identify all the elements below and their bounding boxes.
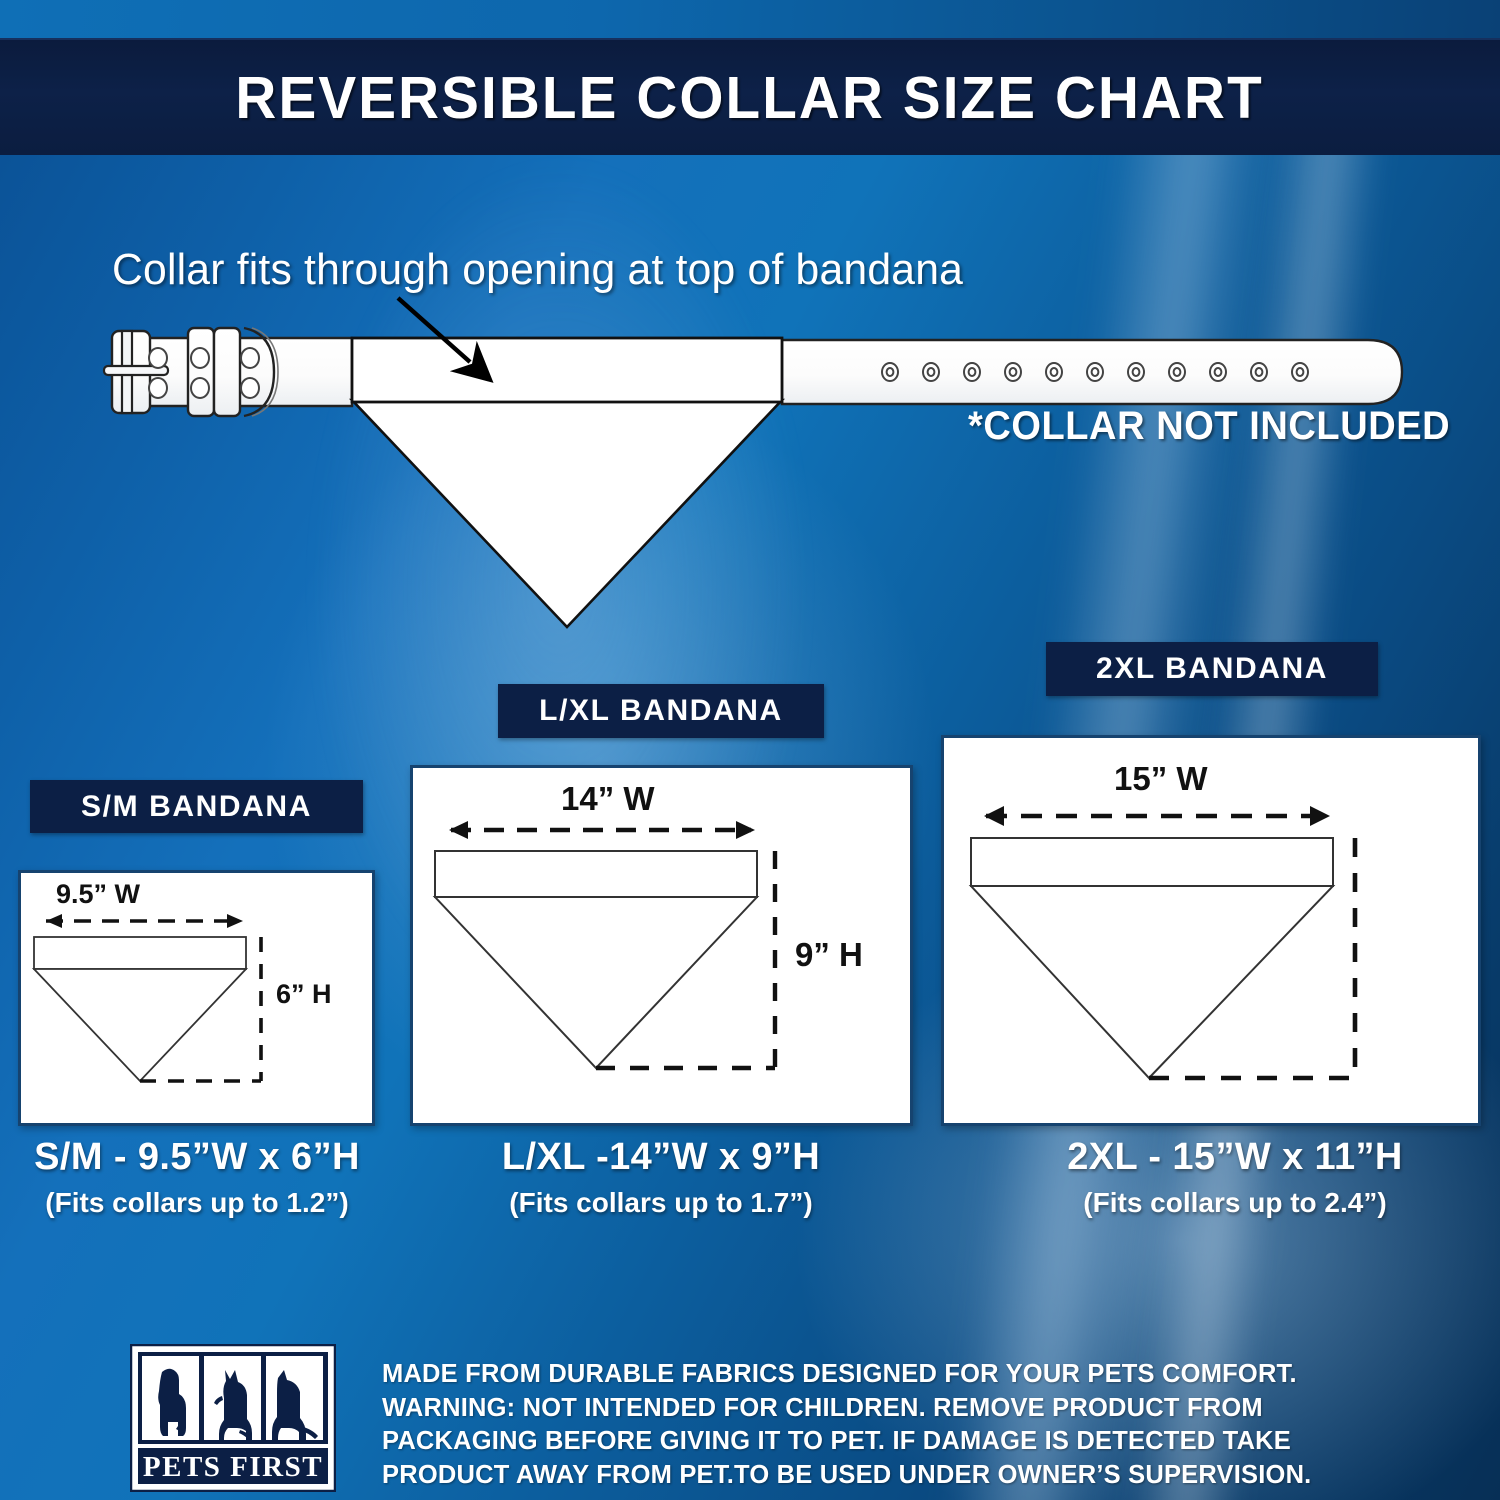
size-card-sm: 9.5” W 6” H <box>18 870 375 1126</box>
height-dimension-label-sm: 6” H <box>276 979 332 1010</box>
size-card-lxl: 14” W 9” H <box>410 765 913 1126</box>
size-pill-label: L/XL BANDANA <box>539 694 783 728</box>
bandana-diagram-2xl <box>944 738 1472 1117</box>
size-pill-2xl: 2XL BANDANA <box>1046 642 1378 696</box>
size-caption-sm: S/M - 9.5”W x 6”H (Fits collars up to 1.… <box>6 1136 388 1219</box>
size-caption-sub: (Fits collars up to 1.2”) <box>6 1187 388 1219</box>
size-pill-sm: S/M BANDANA <box>30 780 363 833</box>
size-pill-lxl: L/XL BANDANA <box>498 684 824 738</box>
title-band: REVERSIBLE COLLAR SIZE CHART <box>0 38 1500 155</box>
width-dimension-label-lxl: 14” W <box>561 780 655 818</box>
legal-line: PACKAGING BEFORE GIVING IT TO PET. IF DA… <box>382 1425 1394 1459</box>
width-dimension-label-2xl: 15” W <box>1114 760 1208 798</box>
height-dimension-label-lxl: 9” H <box>795 936 863 974</box>
size-card-2xl: 15” W <box>941 735 1481 1126</box>
size-caption-2xl: 2XL - 15”W x 11”H (Fits collars up to 2.… <box>1000 1136 1470 1219</box>
pets-first-logo: PETS FIRST <box>130 1344 336 1492</box>
legal-line: MADE FROM DURABLE FABRICS DESIGNED FOR Y… <box>382 1358 1394 1392</box>
top-blue-strip <box>0 0 1500 40</box>
size-pill-label: 2XL BANDANA <box>1096 652 1328 686</box>
size-caption-main: S/M - 9.5”W x 6”H <box>6 1136 388 1179</box>
size-caption-main: 2XL - 15”W x 11”H <box>1000 1136 1470 1179</box>
size-pill-label: S/M BANDANA <box>81 790 312 824</box>
collar-bandana-illustration <box>0 150 1500 670</box>
size-chart-poster: REVERSIBLE COLLAR SIZE CHART Collar fits… <box>0 0 1500 1500</box>
width-dimension-label-sm: 9.5” W <box>56 879 140 910</box>
legal-disclaimer: MADE FROM DURABLE FABRICS DESIGNED FOR Y… <box>382 1358 1394 1492</box>
size-caption-sub: (Fits collars up to 1.7”) <box>452 1187 870 1219</box>
legal-line: PRODUCT AWAY FROM PET.TO BE USED UNDER O… <box>382 1459 1394 1493</box>
page-title: REVERSIBLE COLLAR SIZE CHART <box>236 64 1264 132</box>
size-caption-sub: (Fits collars up to 2.4”) <box>1000 1187 1470 1219</box>
logo-wordmark: PETS FIRST <box>143 1451 323 1483</box>
size-caption-main: L/XL -14”W x 9”H <box>452 1136 870 1179</box>
size-caption-lxl: L/XL -14”W x 9”H (Fits collars up to 1.7… <box>452 1136 870 1219</box>
legal-line: WARNING: NOT INTENDED FOR CHILDREN. REMO… <box>382 1392 1394 1426</box>
